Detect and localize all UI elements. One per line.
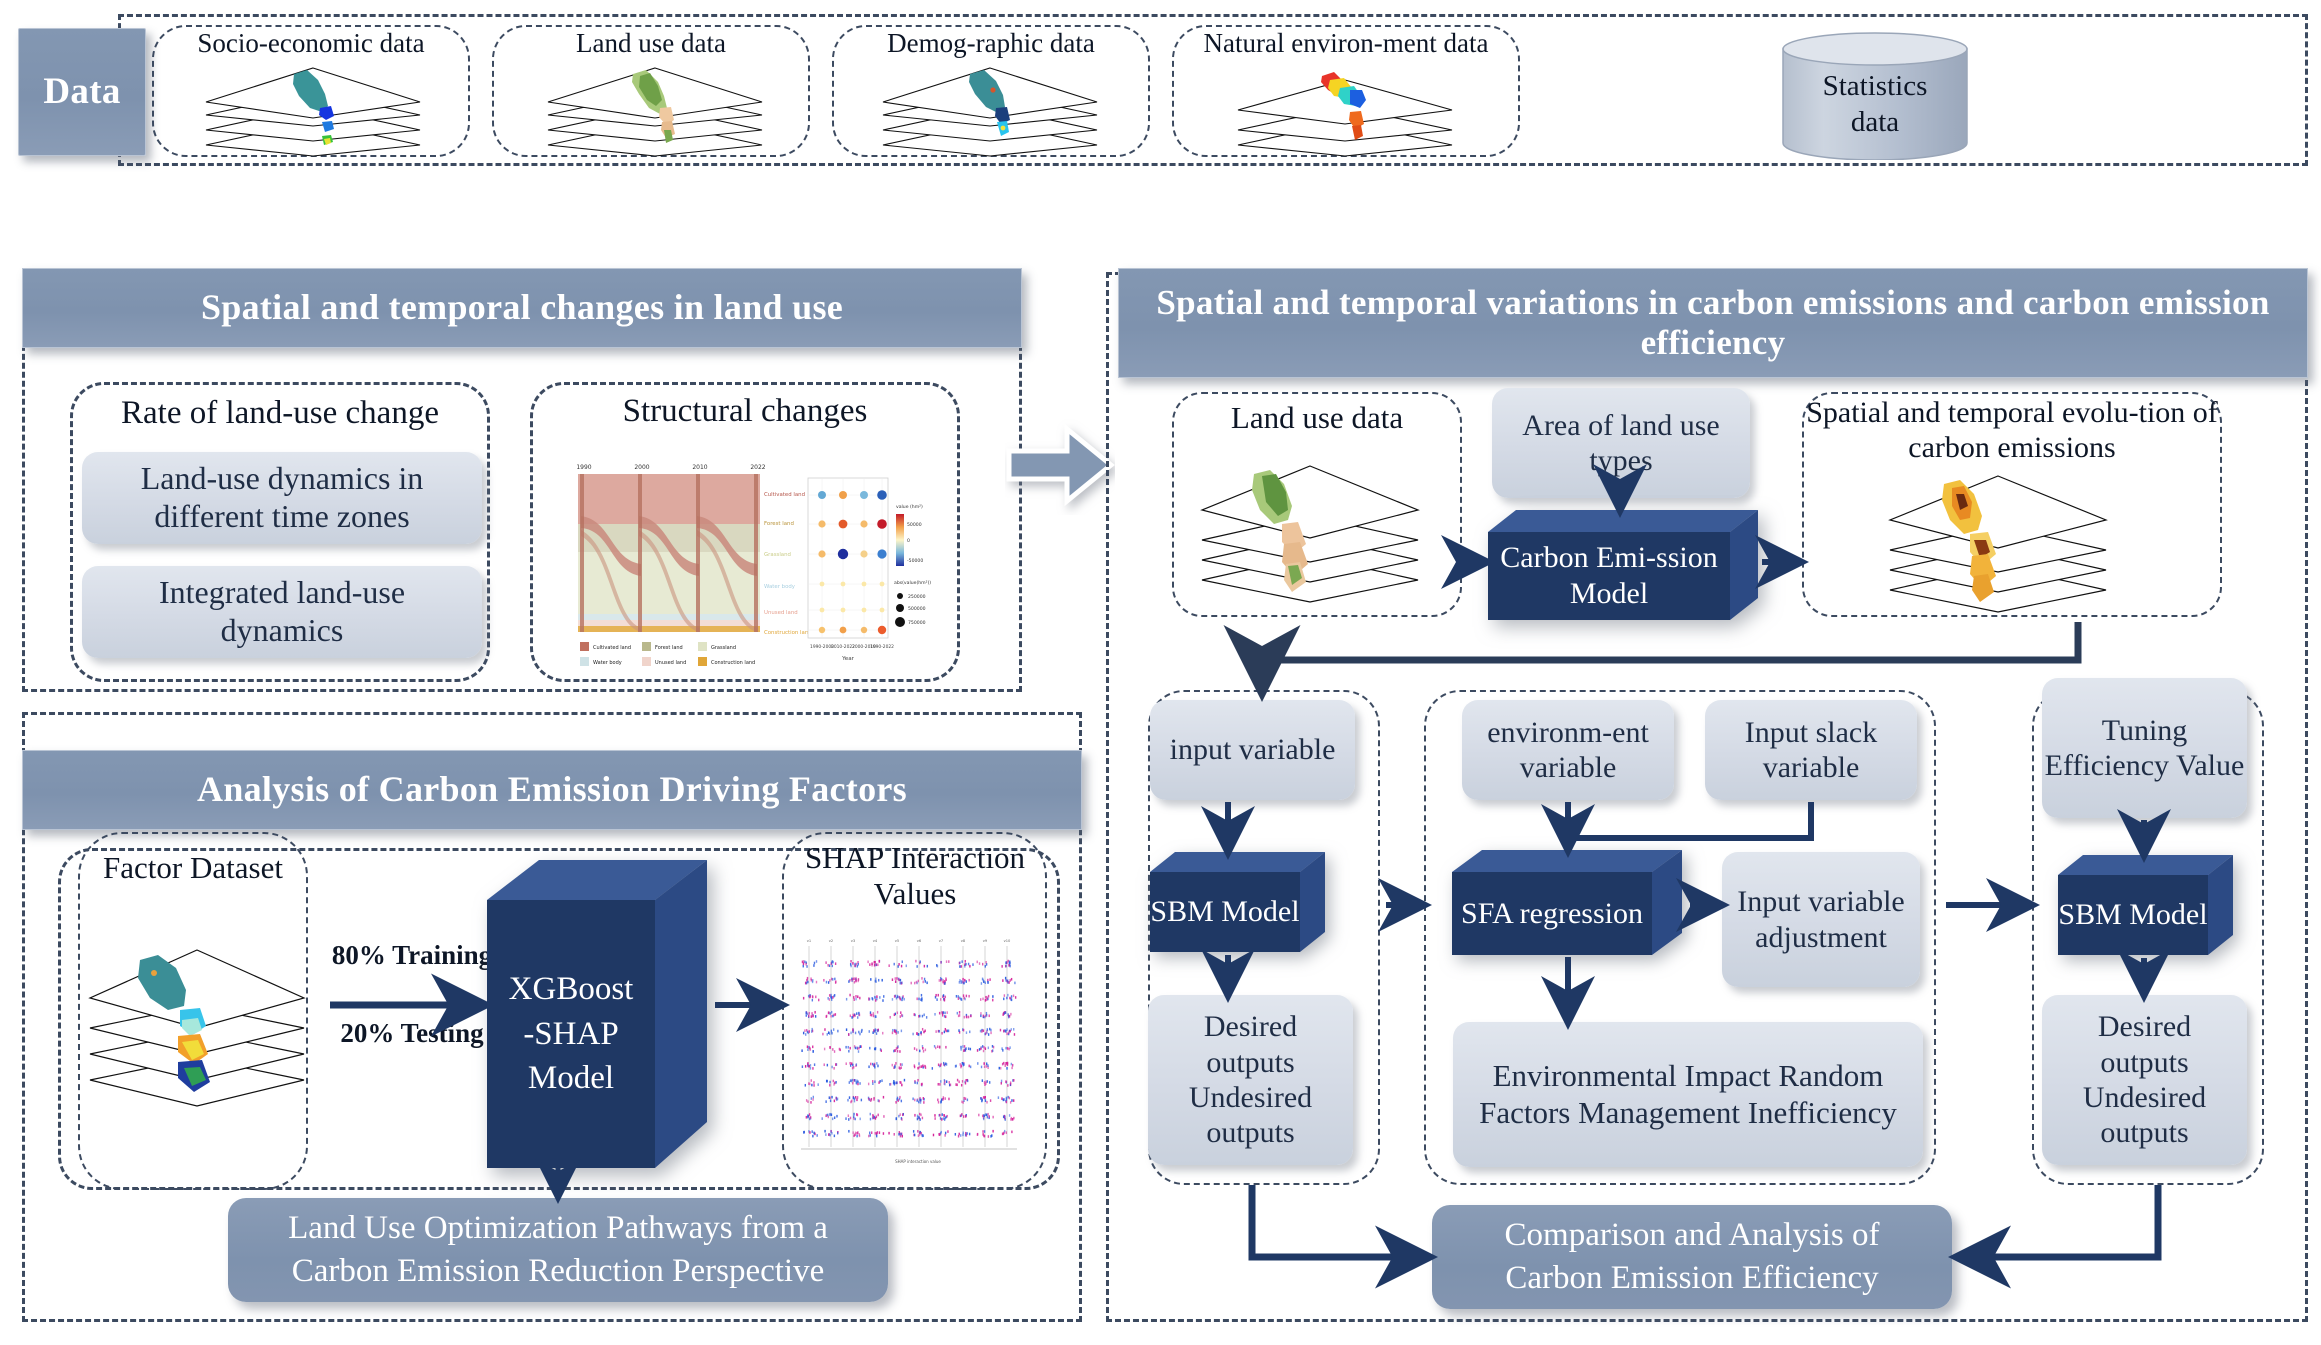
svg-text:v9: v9 [983,939,988,943]
svg-text:Grassland: Grassland [711,645,736,651]
carbon-emission-model-label: Carbon Emi-ssion Model [1488,532,1730,620]
xgboost-line-2: -SHAP [523,1012,618,1057]
tuning-efficiency-value-box[interactable]: Tuning Efficiency Value [2042,678,2247,818]
testing-split-label: 20% Testing [312,1018,512,1049]
svg-text:v8: v8 [961,939,966,943]
svg-text:0: 0 [907,538,910,544]
svg-text:v3: v3 [851,939,855,943]
svg-text:Year: Year [841,656,855,662]
svg-text:abs(value(hm²)): abs(value(hm²)) [894,580,931,586]
land-use-dynamics-time-zones-box[interactable]: Land-use dynamics in different time zone… [82,452,482,544]
xgboost-line-3: Model [528,1056,614,1101]
stage3-sbm-model-label: SBM Model [2058,875,2208,955]
xgboost-line-1: XGBoost [509,967,634,1012]
svg-text:v1: v1 [807,939,811,943]
input-slack-variable-box[interactable]: Input slack variable [1705,700,1917,800]
svg-text:value (hm²): value (hm²) [896,504,923,510]
svg-text:Grassland: Grassland [764,552,791,558]
land-use-optimization-conclusion[interactable]: Land Use Optimization Pathways from a Ca… [228,1198,888,1302]
svg-text:750000: 750000 [908,620,926,626]
xgboost-shap-model-box[interactable]: XGBoost -SHAP Model [487,860,707,1168]
stage1-sbm-model-label: SBM Model [1150,872,1300,952]
carbon-evolution-layer-stack [1870,450,2140,620]
svg-text:1990-2022: 1990-2022 [870,644,894,650]
svg-text:Forest land: Forest land [764,521,794,527]
data-label-banner: Data [18,28,146,156]
statistics-database-label-1: Statistics [1775,70,1975,103]
svg-text:v10: v10 [1004,939,1011,943]
input-variable-box[interactable]: input variable [1150,700,1355,800]
svg-text:v6: v6 [917,939,922,943]
svg-text:Construction land: Construction land [711,660,755,666]
stage3-sbm-model-cube[interactable]: SBM Model [2058,855,2233,955]
svg-text:v5: v5 [895,939,899,943]
sfa-regression-cube[interactable]: SFA regression [1452,850,1682,955]
svg-text:SHAP interaction value: SHAP interaction value [895,1159,941,1164]
svg-text:v4: v4 [873,939,878,943]
stage3-outputs-box[interactable]: Desired outputs Undesired outputs [2042,995,2247,1165]
socio-economic-title: Socio-economic data [152,28,470,59]
land-use-title: Land use data [492,28,810,59]
svg-text:Water body: Water body [764,584,796,590]
svg-text:v2: v2 [829,939,833,943]
sfa-regression-label: SFA regression [1452,872,1652,955]
svg-text:Cultivated land: Cultivated land [764,492,805,498]
shap-interaction-plot: v1v2v3v4v5v6v7v8v9v10SHAP interaction va… [795,928,1035,1183]
integrated-land-use-dynamics-box[interactable]: Integrated land-use dynamics [82,566,482,658]
demographic-title: Demog-raphic data [832,28,1150,59]
svg-text:Cultivated land: Cultivated land [593,645,631,651]
svg-text:Water body: Water body [593,660,622,666]
environment-variable-box[interactable]: environm-ent variable [1462,700,1674,800]
stage1-sbm-model-cube[interactable]: SBM Model [1150,852,1325,952]
svg-text:2010: 2010 [692,464,707,471]
structural-changes-chart: 19902000 20102022 Cultivated lan [556,448,936,677]
driving-factors-panel-header: Analysis of Carbon Emission Driving Fact… [22,750,1082,830]
land-use-layer-stack [540,60,770,160]
land-use-panel-header: Spatial and temporal changes in land use [22,268,1022,348]
training-split-label: 80% Training [312,940,512,971]
area-of-land-use-types-box[interactable]: Area of land use types [1492,388,1750,498]
rate-of-land-use-change-title: Rate of land-use change [70,395,490,433]
factor-dataset-layer-stack [82,928,312,1128]
svg-text:Forest land: Forest land [655,645,683,651]
svg-text:500000: 500000 [908,606,926,612]
data-label-text: Data [43,71,120,114]
svg-text:50000: 50000 [907,522,922,528]
svg-text:Unused land: Unused land [655,660,686,666]
demographic-layer-stack [875,60,1105,160]
svg-text:-50000: -50000 [907,558,923,564]
carbon-land-use-layer-stack [1182,440,1452,610]
carbon-efficiency-conclusion[interactable]: Comparison and Analysis of Carbon Emissi… [1432,1205,1952,1309]
svg-text:Construction land: Construction land [764,630,812,636]
sfa-results-box[interactable]: Environmental Impact Random Factors Mana… [1453,1022,1923,1167]
input-variable-adjustment-box[interactable]: Input variable adjustment [1722,852,1920,987]
shap-interaction-values-title: SHAP Interaction Values [770,840,1060,911]
svg-text:2022: 2022 [750,464,765,471]
svg-text:1990: 1990 [576,464,591,471]
svg-text:2000: 2000 [634,464,649,471]
panel-transition-arrow [1005,415,1115,520]
natural-environment-layer-stack [1230,60,1460,160]
factor-dataset-title: Factor Dataset [72,850,314,886]
natural-environment-title: Natural environ-ment data [1168,28,1524,59]
structural-changes-title: Structural changes [530,393,960,431]
carbon-emission-model-cube[interactable]: Carbon Emi-ssion Model [1488,510,1758,620]
svg-text:Unused land: Unused land [764,610,798,616]
svg-text:250000: 250000 [908,594,926,600]
socio-economic-layer-stack [198,60,428,160]
statistics-database-label-2: data [1775,106,1975,139]
carbon-panel-header: Spatial and temporal variations in carbo… [1118,268,2308,378]
svg-text:v7: v7 [939,939,943,943]
stage1-outputs-box[interactable]: Desired outputs Undesired outputs [1148,995,1353,1165]
carbon-land-use-data-title: Land use data [1172,400,1462,436]
